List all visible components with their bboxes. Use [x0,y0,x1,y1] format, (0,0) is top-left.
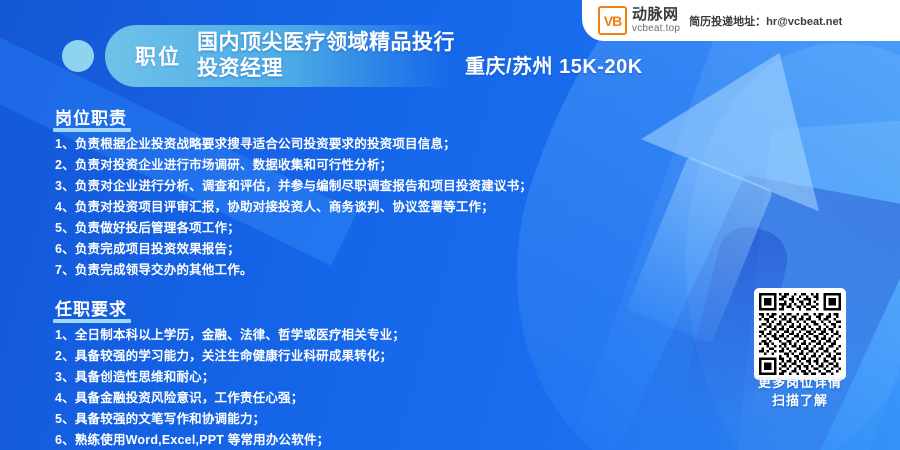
responsibilities-list: 1、负责根据企业投资战略要求搜寻适合公司投资要求的投资项目信息； 2、负责对投资… [55,138,655,277]
qr-caption-line-2: 扫描了解 [772,393,828,408]
brand-name-cn: 动脉网 [632,7,680,22]
list-item: 5、具备较强的文笔写作和协调能力； [55,413,655,426]
decorative-circle-icon [62,40,94,72]
list-item: 6、熟练使用Word,Excel,PPT 等常用办公软件； [55,434,655,447]
list-item: 3、具备创造性思维和耐心； [55,371,655,384]
arrow-head [641,17,868,211]
header-bar: VB 动脉网 vcbeat.top 简历投递地址：hr@vcbeat.net [582,0,900,41]
heading-underline [53,128,131,132]
requirements-list: 1、全日制本科以上学历，金融、法律、哲学或医疗相关专业； 2、具备较强的学习能力… [55,329,655,450]
heading-text: 任职要求 [55,300,127,319]
list-item: 7、负责完成领导交办的其他工作。 [55,264,655,277]
job-title-line-1: 国内顶尖医疗领域精品投行 [197,31,455,54]
list-item: 3、负责对企业进行分析、调查和评估，并参与编制尽职调查报告和项目投资建议书； [55,180,655,193]
job-title-row: 职位 国内顶尖医疗领域精品投行 投资经理 [105,25,455,87]
resume-email-label: 简历投递地址：hr@vcbeat.net [689,13,842,29]
list-item: 5、负责做好投后管理各项工作； [55,222,655,235]
list-item: 2、具备较强的学习能力，关注生命健康行业科研成果转化； [55,350,655,363]
qr-code-icon[interactable] [754,288,846,380]
heading-text: 岗位职责 [55,109,127,128]
list-item: 4、负责对投资项目评审汇报，协助对接投资人、商务谈判、协议签署等工作； [55,201,655,214]
qr-caption: 更多岗位详情 扫描了解 [734,374,866,409]
heading-underline [53,319,131,323]
position-label: 职位 [135,41,181,71]
brand-logo: VB 动脉网 vcbeat.top [598,6,680,35]
list-item: 2、负责对投资企业进行市场调研、数据收集和可行性分析； [55,159,655,172]
salary-location-label: 重庆/苏州 15K-20K [465,50,643,79]
list-item: 1、全日制本科以上学历，金融、法律、哲学或医疗相关专业； [55,329,655,342]
job-details: 岗位职责 1、负责根据企业投资战略要求搜寻适合公司投资要求的投资项目信息； 2、… [55,104,655,450]
list-item: 6、负责完成项目投资效果报告； [55,243,655,256]
brand-name-en: vcbeat.top [632,24,680,34]
title-content: 职位 国内顶尖医疗领域精品投行 投资经理 [105,25,455,87]
job-title-line-2: 投资经理 [197,57,283,80]
list-item: 1、负责根据企业投资战略要求搜寻适合公司投资要求的投资项目信息； [55,138,655,151]
section-requirements: 任职要求 1、全日制本科以上学历，金融、法律、哲学或医疗相关专业； 2、具备较强… [55,295,655,450]
list-item: 4、具备金融投资风险意识，工作责任心强； [55,392,655,405]
brand-logo-text: 动脉网 vcbeat.top [632,7,680,34]
qr-caption-line-1: 更多岗位详情 [758,375,842,390]
qr-code-svg [759,293,841,375]
section-responsibilities: 岗位职责 1、负责根据企业投资战略要求搜寻适合公司投资要求的投资项目信息； 2、… [55,104,655,277]
job-title: 国内顶尖医疗领域精品投行 投资经理 [197,30,455,81]
vb-logo-icon: VB [598,6,627,35]
section-heading-requirements: 任职要求 [55,295,127,320]
section-heading-responsibilities: 岗位职责 [55,104,127,129]
job-poster: VB 动脉网 vcbeat.top 简历投递地址：hr@vcbeat.net 职… [0,0,900,450]
